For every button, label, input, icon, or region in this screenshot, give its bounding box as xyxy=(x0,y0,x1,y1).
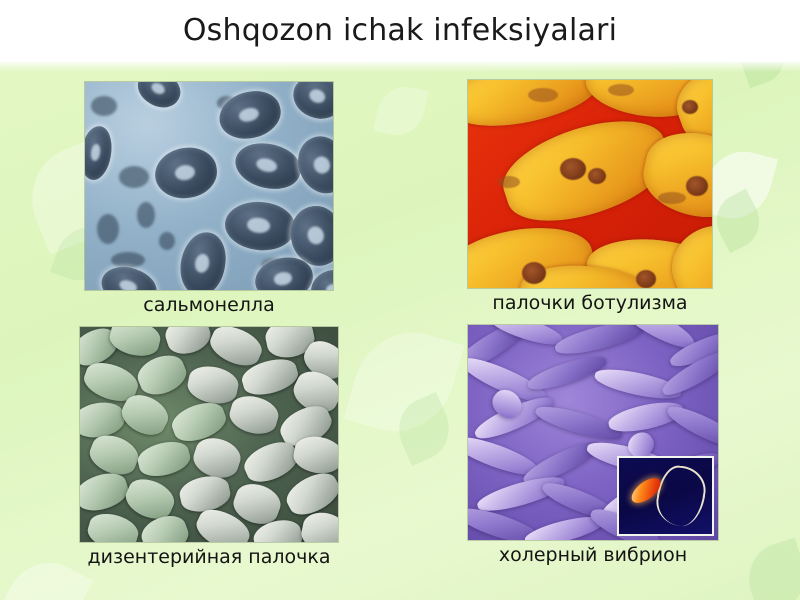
botulism-bacilli-micrograph[interactable] xyxy=(468,80,712,288)
figure-salmonella: сальмонелла xyxy=(85,82,333,290)
figure-caption-salmonella: сальмонелла xyxy=(143,294,274,316)
leaf-decoration-icon xyxy=(388,392,459,466)
figure-cholera: холерный вибрион xyxy=(468,325,718,540)
figure-caption-cholera: холерный вибрион xyxy=(499,544,687,566)
cholera-vibrio-micrograph[interactable] xyxy=(468,325,718,540)
title-band: Oshqozon ichak infeksiyalari xyxy=(0,0,800,62)
page-title: Oshqozon ichak infeksiyalari xyxy=(0,0,800,62)
figure-dysentery: дизентерийная палочка xyxy=(80,327,338,542)
leaf-decoration-icon xyxy=(344,319,465,445)
leaf-decoration-icon xyxy=(707,189,769,254)
slide-canvas: Oshqozon ichak infeksiyalari xyxy=(0,0,800,600)
flagellum-icon xyxy=(654,464,708,529)
leaf-decoration-icon xyxy=(740,538,800,600)
figure-botulism: палочки ботулизма xyxy=(468,80,712,288)
figure-caption-dysentery: дизентерийная палочка xyxy=(88,546,331,568)
figure-caption-botulism: палочки ботулизма xyxy=(492,292,687,314)
salmonella-micrograph[interactable] xyxy=(85,82,333,290)
leaf-decoration-icon xyxy=(0,548,93,600)
leaf-decoration-icon xyxy=(373,82,428,140)
dysentery-bacillus-micrograph[interactable] xyxy=(80,327,338,542)
vibrio-flagellum-inset[interactable] xyxy=(617,456,714,536)
